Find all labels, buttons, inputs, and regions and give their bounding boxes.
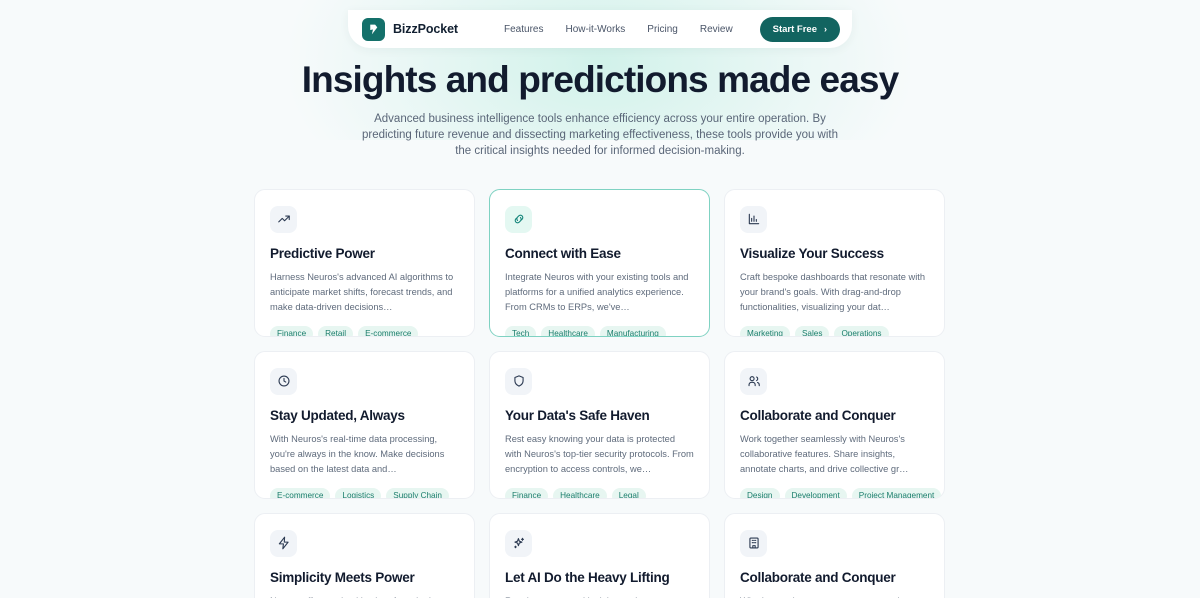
start-free-button[interactable]: Start Free ›: [760, 17, 840, 42]
tag-pill[interactable]: Marketing: [740, 326, 790, 337]
tag-pill[interactable]: Project Management: [852, 488, 942, 499]
tag-pill[interactable]: Sales: [795, 326, 829, 337]
tag-pill[interactable]: Finance: [505, 488, 548, 499]
feature-card[interactable]: Simplicity Meets PowerNeuros offers an i…: [254, 513, 475, 598]
link-icon: [512, 212, 526, 226]
nav-item-how-it-works[interactable]: How-it-Works: [565, 24, 625, 35]
feature-card-tags: MarketingSalesOperations: [740, 326, 929, 337]
feature-card-title: Collaborate and Conquer: [740, 570, 929, 585]
feature-card-title: Visualize Your Success: [740, 246, 929, 261]
clock-icon: [277, 374, 291, 388]
trending-up-icon: [277, 212, 291, 226]
feature-card-title: Collaborate and Conquer: [740, 408, 929, 423]
feature-card-tags: DesignDevelopmentProject Management: [740, 488, 929, 499]
feature-card-title: Your Data's Safe Haven: [505, 408, 694, 423]
sparkles-icon: [512, 536, 526, 550]
feature-card-description: Rest easy knowing your data is protected…: [505, 432, 694, 477]
feature-card-description: Neuros offers an intuitive interface tha…: [270, 594, 459, 598]
shield-icon-box: [505, 368, 532, 395]
feature-card[interactable]: Predictive PowerHarness Neuros's advance…: [254, 189, 475, 337]
feature-card-title: Connect with Ease: [505, 246, 694, 261]
hero-section: Insights and predictions made easy Advan…: [0, 48, 1200, 160]
nav-links: Features How-it-Works Pricing Review: [504, 24, 760, 35]
zap-icon: [277, 536, 291, 550]
tag-pill[interactable]: Development: [785, 488, 847, 499]
tag-pill[interactable]: E-commerce: [270, 488, 330, 499]
brand-logo[interactable]: BizzPocket: [362, 18, 458, 41]
users-icon-box: [740, 368, 767, 395]
shield-icon: [512, 374, 526, 388]
feature-card[interactable]: Collaborate and ConquerWhether you're a …: [724, 513, 945, 598]
link-icon-box: [505, 206, 532, 233]
feature-card[interactable]: Let AI Do the Heavy LiftingReceive autom…: [489, 513, 710, 598]
feature-card-title: Stay Updated, Always: [270, 408, 459, 423]
feature-card-description: Integrate Neuros with your existing tool…: [505, 270, 694, 315]
page-title: Insights and predictions made easy: [0, 58, 1200, 102]
tag-pill[interactable]: Design: [740, 488, 780, 499]
tag-pill[interactable]: Operations: [834, 326, 888, 337]
bar-chart-icon: [747, 212, 761, 226]
feature-card[interactable]: Visualize Your SuccessCraft bespoke dash…: [724, 189, 945, 337]
top-navbar: BizzPocket Features How-it-Works Pricing…: [348, 10, 852, 48]
feature-card-description: Whether you're a startup or an enterpris…: [740, 594, 929, 598]
tag-pill[interactable]: Legal: [612, 488, 646, 499]
users-icon: [747, 374, 761, 388]
bizzpocket-logo-icon: [362, 18, 385, 41]
tag-pill[interactable]: Logistics: [335, 488, 381, 499]
feature-card-title: Simplicity Meets Power: [270, 570, 459, 585]
feature-card-title: Let AI Do the Heavy Lifting: [505, 570, 694, 585]
feature-card-grid: Predictive PowerHarness Neuros's advance…: [254, 189, 946, 598]
header-region: BizzPocket Features How-it-Works Pricing…: [0, 0, 1200, 48]
feature-card-description: Craft bespoke dashboards that resonate w…: [740, 270, 929, 315]
feature-card[interactable]: Your Data's Safe HavenRest easy knowing …: [489, 351, 710, 499]
nav-item-review[interactable]: Review: [700, 24, 733, 35]
clock-icon-box: [270, 368, 297, 395]
feature-card-description: With Neuros's real-time data processing,…: [270, 432, 459, 477]
zap-icon-box: [270, 530, 297, 557]
tag-pill[interactable]: Supply Chain: [386, 488, 449, 499]
sparkles-icon-box: [505, 530, 532, 557]
tag-pill[interactable]: E-commerce: [358, 326, 418, 337]
start-free-label: Start Free: [773, 24, 817, 35]
tag-pill[interactable]: Manufacturing: [600, 326, 666, 337]
feature-card-description: Receive automated insights and recommend…: [505, 594, 694, 598]
feature-card-description: Work together seamlessly with Neuros's c…: [740, 432, 929, 477]
feature-card[interactable]: Connect with EaseIntegrate Neuros with y…: [489, 189, 710, 337]
feature-card-tags: FinanceRetailE-commerce: [270, 326, 459, 337]
tag-pill[interactable]: Tech: [505, 326, 536, 337]
tag-pill[interactable]: Finance: [270, 326, 313, 337]
feature-card-title: Predictive Power: [270, 246, 459, 261]
trending-up-icon-box: [270, 206, 297, 233]
brand-name: BizzPocket: [393, 22, 458, 36]
feature-card-tags: FinanceHealthcareLegal: [505, 488, 694, 499]
building-icon-box: [740, 530, 767, 557]
tag-pill[interactable]: Healthcare: [553, 488, 607, 499]
feature-card-tags: TechHealthcareManufacturing: [505, 326, 694, 337]
feature-card-description: Harness Neuros's advanced AI algorithms …: [270, 270, 459, 315]
bar-chart-icon-box: [740, 206, 767, 233]
hero-subtitle: Advanced business intelligence tools enh…: [354, 111, 846, 160]
nav-item-pricing[interactable]: Pricing: [647, 24, 678, 35]
feature-card[interactable]: Collaborate and ConquerWork together sea…: [724, 351, 945, 499]
feature-card-tags: E-commerceLogisticsSupply Chain: [270, 488, 459, 499]
chevron-right-icon: ›: [824, 25, 827, 34]
building-icon: [747, 536, 761, 550]
nav-item-features[interactable]: Features: [504, 24, 543, 35]
feature-card[interactable]: Stay Updated, AlwaysWith Neuros's real-t…: [254, 351, 475, 499]
tag-pill[interactable]: Healthcare: [541, 326, 595, 337]
tag-pill[interactable]: Retail: [318, 326, 353, 337]
